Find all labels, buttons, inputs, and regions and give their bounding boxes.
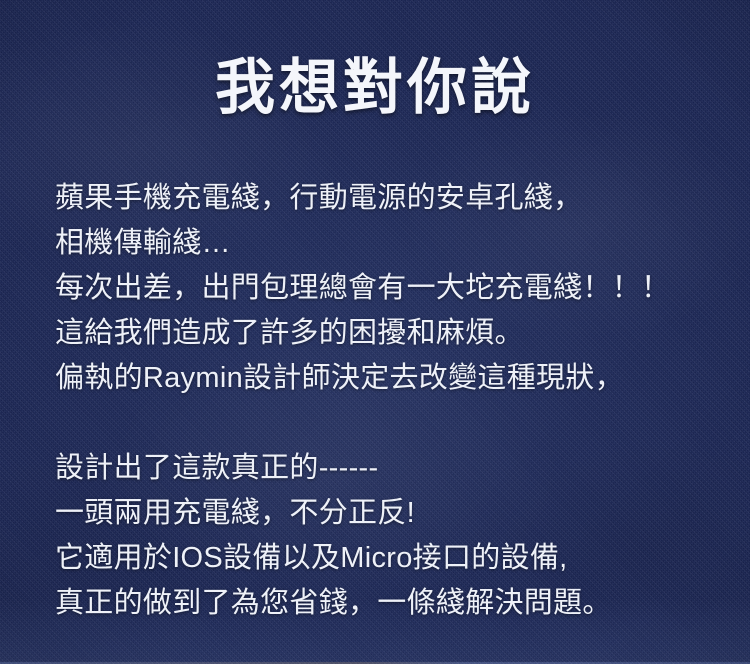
body-line-6: 設計出了這款真正的------ (55, 446, 715, 491)
poster-body-text: 蘋果手機充電綫，行動電源的安卓孔綫， 相機傳輸綫… 每次出差，出門包理總會有一大… (55, 176, 715, 626)
body-line-4: 這給我們造成了許多的困擾和麻煩。 (55, 311, 715, 356)
body-line-3: 每次出差，出門包理總會有一大坨充電綫！！！ (55, 266, 715, 311)
body-line-9: 真正的做到了為您省錢，一條綫解決問題。 (55, 581, 715, 626)
body-line-2: 相機傳輸綫… (55, 221, 715, 266)
body-line-5: 偏執的Raymin設計師決定去改變這種現狀， (55, 356, 715, 401)
body-line-1: 蘋果手機充電綫，行動電源的安卓孔綫， (55, 176, 715, 221)
promo-poster: 我想對你說 蘋果手機充電綫，行動電源的安卓孔綫， 相機傳輸綫… 每次出差，出門包… (0, 0, 750, 664)
body-line-blank (55, 401, 715, 446)
poster-title: 我想對你說 (0, 52, 750, 124)
body-line-8: 它適用於IOS設備以及Micro接口的設備, (55, 536, 715, 581)
body-line-7: 一頭兩用充電綫，不分正反! (55, 491, 715, 536)
poster-content: 我想對你說 蘋果手機充電綫，行動電源的安卓孔綫， 相機傳輸綫… 每次出差，出門包… (0, 0, 750, 664)
